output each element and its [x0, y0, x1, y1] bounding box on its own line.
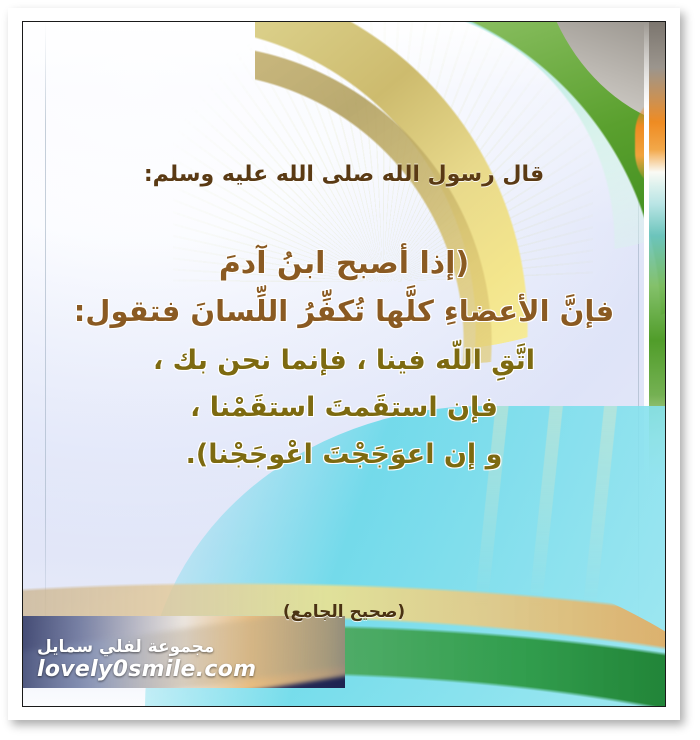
- watermark-text-group: مجموعة لفلي سمايل lovely0smile.com: [37, 638, 256, 682]
- hadith-line-3: اتَّقِ اللّه فينا ، فإنما نحن بك ،: [41, 343, 647, 378]
- hadith-line-2: فإنَّ الأعضاءِ كلَّها تُكفِّرُ اللِّسانَ…: [41, 293, 647, 331]
- watermark-site-url: lovely0smile.com: [37, 658, 256, 682]
- hadith-source-reference: (صحيح الجامع): [23, 602, 665, 622]
- hadith-body: (إذا أصبح ابنُ آدمَ فإنَّ الأعضاءِ كلَّه…: [41, 244, 647, 484]
- watermark-arabic-label: مجموعة لفلي سمايل: [37, 638, 256, 658]
- poster-card: مجموعة لفلي سمايل lovely0smile.com قال ر…: [8, 8, 680, 720]
- hadith-line-5: و إن اعوَجَجْتَ اعْوجَجْنا).: [41, 437, 647, 472]
- hadith-line-1: (إذا أصبح ابنُ آدمَ: [41, 244, 647, 283]
- poster-inner-frame: مجموعة لفلي سمايل lovely0smile.com قال ر…: [22, 21, 666, 707]
- watermark-band: مجموعة لفلي سمايل lovely0smile.com: [23, 616, 345, 688]
- hadith-intro-text: قال رسول الله صلى الله عليه وسلم:: [23, 162, 665, 187]
- hadith-line-4: فإن استقَمتَ استقَمْنا ،: [41, 390, 647, 425]
